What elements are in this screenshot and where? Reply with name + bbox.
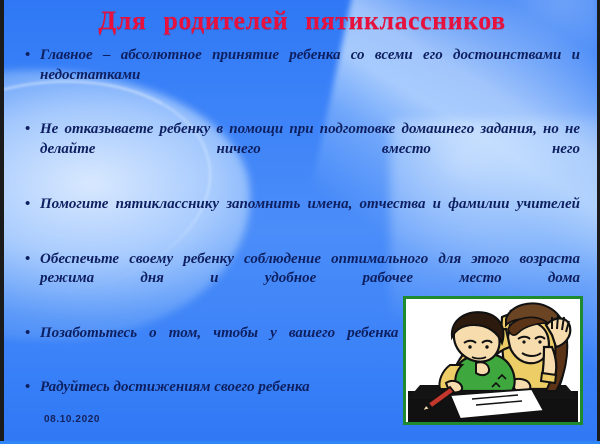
slide-date: 08.10.2020 [44,414,100,425]
list-item-text: Помогите пятикласснику запомнить имена, … [40,195,580,235]
list-item-text: Не отказываете ребенку в помощи при подг… [40,120,580,180]
list-item: • Главное – абсолютное принятие ребенка … [24,46,580,106]
bullet-point-icon: • [25,120,30,140]
list-item: • Помогите пятикласснику запомнить имена… [24,195,580,235]
slide-title: Для родителей пятиклассников [52,7,552,36]
bullet-point-icon: • [25,324,30,344]
slide-edge-left [0,0,4,444]
bullet-point-icon: • [25,378,30,398]
bullet-point-icon: • [25,250,30,270]
list-item-text: Главное – абсолютное принятие ребенка со… [40,46,580,106]
presentation-slide: Для родителей пятиклассников • Главное –… [0,0,600,444]
homework-illustration [406,299,580,422]
bullet-point-icon: • [25,46,30,66]
list-item: • Не отказываете ребенку в помощи при по… [24,120,580,180]
bullet-point-icon: • [25,195,30,215]
illustration-frame [403,296,583,425]
